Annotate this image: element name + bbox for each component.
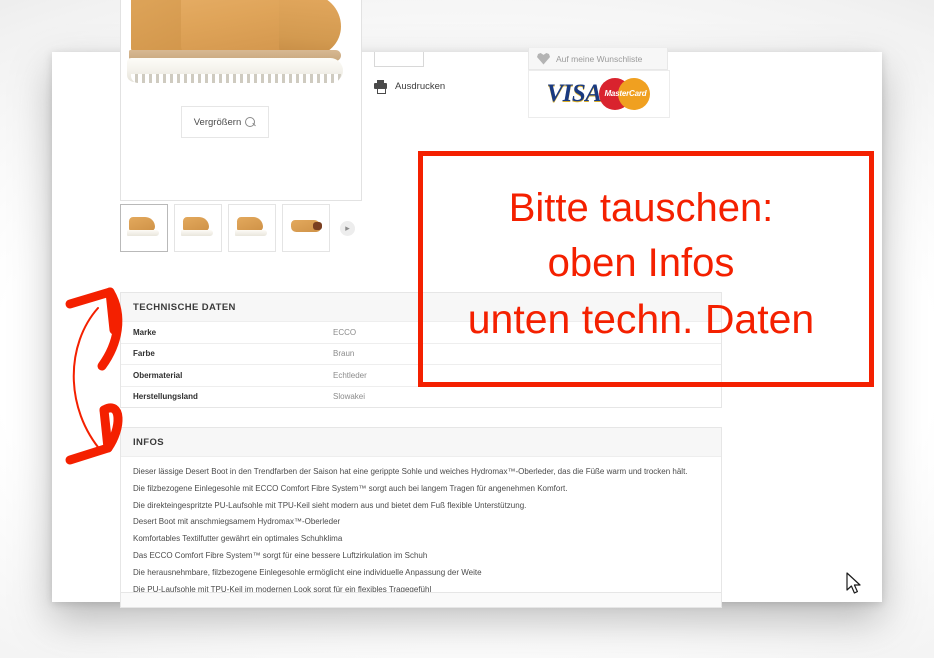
next-panel-partial bbox=[120, 592, 722, 608]
wishlist-label: Auf meine Wunschliste bbox=[556, 54, 642, 64]
thumbnail-3[interactable] bbox=[228, 204, 276, 252]
annotation-box bbox=[418, 151, 874, 387]
thumbnail-strip[interactable]: ▸ bbox=[120, 204, 355, 252]
payment-methods: VISA MasterCard bbox=[528, 70, 670, 118]
row-key: Obermaterial bbox=[121, 365, 323, 387]
cart-quantity-stub bbox=[374, 52, 424, 67]
product-image-gallery[interactable]: Vergrößern bbox=[120, 0, 362, 201]
row-key: Farbe bbox=[121, 343, 323, 365]
mouse-cursor bbox=[845, 572, 863, 596]
infos-paragraph: Die herausnehmbare, filzbezogene Einlege… bbox=[133, 568, 707, 579]
row-key: Marke bbox=[121, 322, 323, 343]
print-button[interactable]: Ausdrucken bbox=[374, 80, 445, 92]
row-key: Herstellungsland bbox=[121, 386, 323, 407]
magnifier-icon bbox=[245, 117, 256, 128]
infos-paragraph: Desert Boot mit anschmiegsamem Hydromax™… bbox=[133, 517, 707, 528]
infos-body: Dieser lässige Desert Boot in den Trendf… bbox=[121, 457, 721, 607]
row-value: Slowakei bbox=[323, 386, 721, 407]
visa-logo: VISA bbox=[547, 80, 602, 108]
printer-icon bbox=[374, 80, 387, 92]
swap-arrow-icon bbox=[58, 282, 138, 482]
table-row: Herstellungsland Slowakei bbox=[121, 386, 721, 407]
infos-paragraph: Das ECCO Comfort Fibre System™ sorgt für… bbox=[133, 551, 707, 562]
print-label: Ausdrucken bbox=[395, 81, 445, 92]
infos-paragraph: Die direkteingespritzte PU-Laufsohle mit… bbox=[133, 501, 707, 512]
infos-paragraph: Dieser lässige Desert Boot in den Trendf… bbox=[133, 467, 707, 478]
chevron-right-icon[interactable]: ▸ bbox=[340, 221, 355, 236]
thumbnail-2[interactable] bbox=[174, 204, 222, 252]
thumbnail-1[interactable] bbox=[120, 204, 168, 252]
infos-panel: INFOS Dieser lässige Desert Boot in den … bbox=[120, 427, 722, 608]
zoom-image-button[interactable]: Vergrößern bbox=[181, 106, 269, 138]
mastercard-logo: MasterCard bbox=[599, 78, 651, 110]
infos-heading: INFOS bbox=[121, 428, 721, 457]
infos-paragraph: Die filzbezogene Einlegesohle mit ECCO C… bbox=[133, 484, 707, 495]
zoom-label: Vergrößern bbox=[194, 117, 242, 128]
wishlist-button[interactable]: Auf meine Wunschliste bbox=[528, 48, 668, 70]
thumbnail-4[interactable] bbox=[282, 204, 330, 252]
infos-paragraph: Komfortables Textilfutter gewährt ein op… bbox=[133, 534, 707, 545]
heart-icon bbox=[537, 53, 550, 65]
mastercard-label: MasterCard bbox=[601, 89, 649, 98]
